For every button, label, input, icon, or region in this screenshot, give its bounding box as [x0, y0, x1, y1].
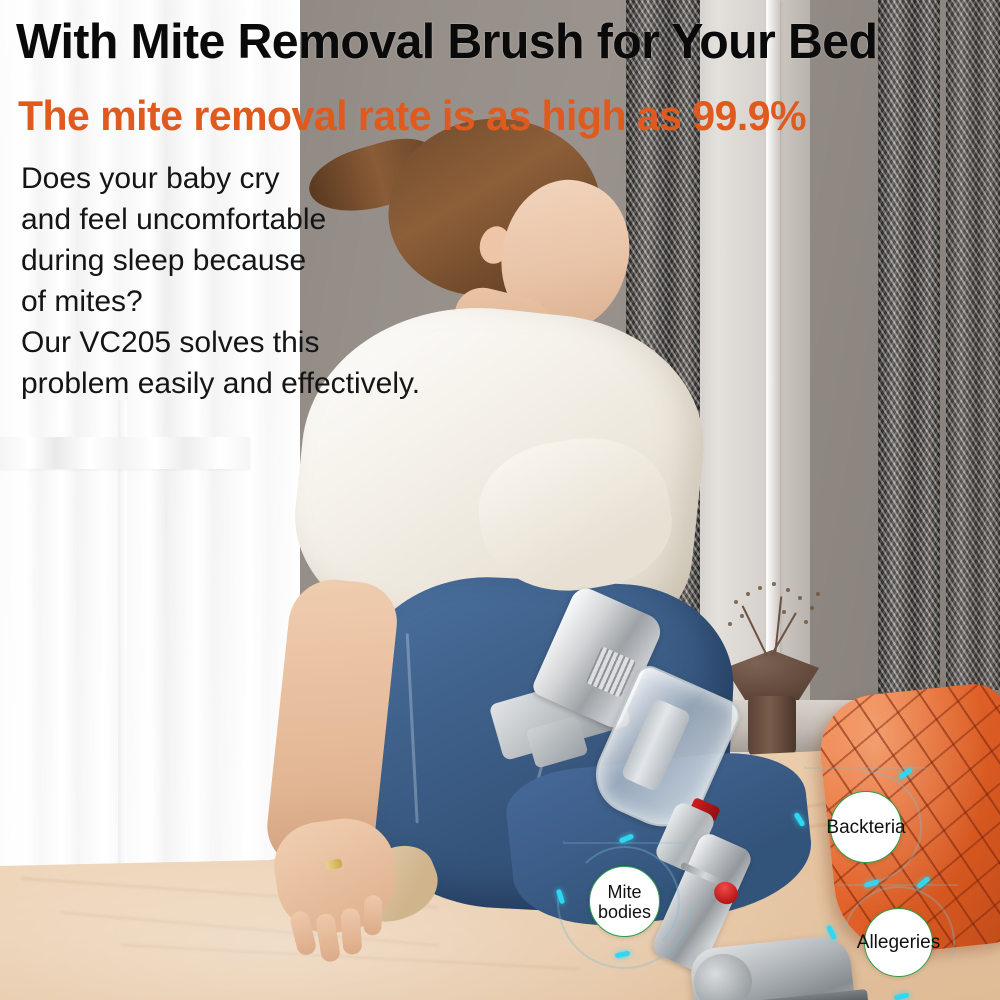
body-line: problem easily and effectively.: [21, 363, 541, 404]
badge-disc: Mite bodies: [589, 866, 660, 937]
badge-label-line1: Mite: [607, 882, 641, 902]
badge-mite-bodies: Mite bodies: [589, 866, 660, 937]
badge-label: Mite bodies: [598, 882, 651, 922]
product-marketing-image: With Mite Removal Brush for Your Bed The…: [0, 0, 1000, 1000]
subheadline: The mite removal rate is as high as 99.9…: [18, 92, 962, 140]
badge-label: Allegeries: [857, 932, 940, 953]
badge-disc: Allegeries: [864, 908, 933, 977]
badge-allergies: Allegeries: [864, 908, 933, 977]
body-line: and feel uncomfortable: [21, 199, 541, 240]
page-title: With Mite Removal Brush for Your Bed: [16, 14, 969, 70]
badge-label: Backteria: [826, 817, 905, 838]
badge-bacteria: Backteria: [830, 791, 902, 863]
body-line: Our VC205 solves this: [21, 322, 541, 363]
curtain-seam: [118, 400, 127, 880]
body-copy: Does your baby cry and feel uncomfortabl…: [21, 158, 541, 404]
handheld-vacuum: [496, 590, 876, 990]
body-line: Does your baby cry: [21, 158, 541, 199]
body-line: during sleep because: [21, 240, 541, 281]
body-line: of mites?: [21, 281, 541, 322]
badge-label-line2: bodies: [598, 902, 651, 922]
badge-disc: Backteria: [830, 791, 902, 863]
